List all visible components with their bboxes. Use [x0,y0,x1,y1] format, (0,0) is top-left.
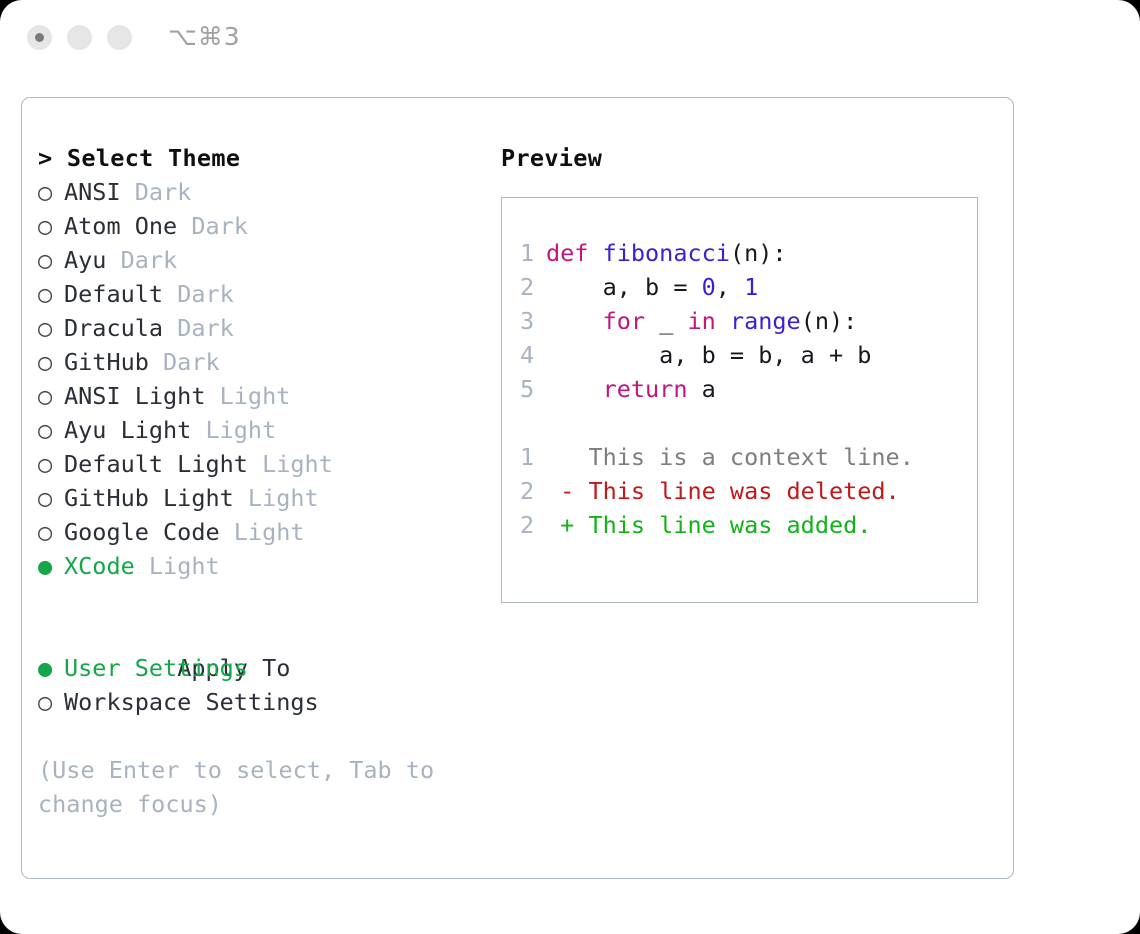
code-token-plain: _ [645,307,687,335]
code-line: 2 a, b = 0, 1 [520,270,977,304]
code-token-plain: a, b = b, a + b [546,341,871,369]
theme-variant-label: Dark [149,348,220,376]
line-number: 2 [520,508,546,542]
window-dot-third-icon[interactable] [107,25,132,50]
code-token-del: - This line was deleted. [546,477,900,505]
code-line: 4 a, b = b, a + b [520,338,977,372]
theme-name: Default Light [64,450,248,478]
line-number: 1 [520,440,546,474]
theme-list-item[interactable]: ○Ayu Dark [38,243,488,277]
theme-name: Dracula [64,314,163,342]
code-token-fn: range [730,307,801,335]
theme-name: GitHub [64,348,149,376]
code-token-add: + This line was added. [546,511,871,539]
theme-list-item[interactable]: ○GitHub Dark [38,345,488,379]
radio-unselected-icon: ○ [38,413,64,447]
theme-list-item[interactable]: ○Ayu Light Light [38,413,488,447]
line-number: 2 [520,474,546,508]
diff-line: 1 This is a context line. [520,440,977,474]
preview-column: Preview 1def fibonacci(n):2 a, b = 0, 13… [501,141,1001,603]
theme-list-item[interactable]: ○Atom One Dark [38,209,488,243]
theme-variant-label: Dark [163,280,234,308]
radio-unselected-icon: ○ [38,345,64,379]
diff-sample-block: 1 This is a context line.2 - This line w… [520,440,977,542]
theme-list: ○ANSI Dark○Atom One Dark○Ayu Dark○Defaul… [38,175,488,583]
line-number: 2 [520,270,546,304]
theme-variant-label: Dark [121,178,192,206]
code-token-kw: in [688,307,716,335]
radio-unselected-icon: ○ [38,243,64,277]
theme-variant-label: Light [220,518,305,546]
window-dot-second-icon[interactable] [67,25,92,50]
theme-list-item[interactable]: ○Dracula Dark [38,311,488,345]
code-line: 1def fibonacci(n): [520,236,977,270]
code-token-plain [546,307,603,335]
radio-unselected-icon: ○ [38,311,64,345]
apply-to-item[interactable]: ○Workspace Settings [38,685,488,719]
code-token-kw: for [603,307,645,335]
theme-name: Ayu [64,246,106,274]
code-token-ctx: This is a context line. [546,443,914,471]
theme-name: ANSI [64,178,121,206]
code-token-num: 1 [744,273,758,301]
code-token-fn: fibonacci [603,239,730,267]
diff-line: 2 + This line was added. [520,508,977,542]
theme-variant-label: Dark [177,212,248,240]
theme-list-item[interactable]: ○GitHub Light Light [38,481,488,515]
theme-list-item[interactable]: ○ANSI Light Light [38,379,488,413]
radio-selected-icon: ● [38,651,64,685]
code-token-plain: (n): [730,239,787,267]
code-line: 3 for _ in range(n): [520,304,977,338]
theme-name: GitHub Light [64,484,234,512]
theme-list-item[interactable]: ○Google Code Light [38,515,488,549]
code-sample-block: 1def fibonacci(n):2 a, b = 0, 13 for _ i… [520,236,977,406]
line-number: 4 [520,338,546,372]
theme-variant-label: Light [248,450,333,478]
diff-line: 2 - This line was deleted. [520,474,977,508]
theme-variant-label: Light [234,484,319,512]
preview-title: Preview [501,141,1001,175]
radio-unselected-icon: ○ [38,685,64,719]
code-token-num: 0 [702,273,716,301]
theme-list-item[interactable]: ○Default Dark [38,277,488,311]
theme-name: Atom One [64,212,177,240]
theme-list-item[interactable]: ○ANSI Dark [38,175,488,209]
code-token-plain: a [687,375,715,403]
theme-list-header: > Select Theme [38,141,488,175]
code-token-plain [716,307,730,335]
window-dot-active-inner-icon [35,33,44,42]
line-number: 3 [520,304,546,338]
code-token-plain: a, b = [546,273,702,301]
radio-unselected-icon: ○ [38,277,64,311]
code-token-plain: (n): [801,307,858,335]
code-token-kw: def [546,239,603,267]
radio-unselected-icon: ○ [38,379,64,413]
radio-unselected-icon: ○ [38,175,64,209]
theme-name: XCode [64,552,135,580]
theme-selector-column: > Select Theme ○ANSI Dark○Atom One Dark○… [38,141,488,821]
radio-unselected-icon: ○ [38,515,64,549]
theme-name: Ayu Light [64,416,191,444]
theme-variant-label: Dark [163,314,234,342]
code-token-kw: return [603,375,688,403]
titlebar: ⌥⌘3 [0,0,1140,78]
apply-to-header: ○Apply To [38,617,488,651]
app-window: ⌥⌘3 > Select Theme ○ANSI Dark○Atom One D… [0,0,1140,934]
code-line: 5 return a [520,372,977,406]
radio-selected-icon: ● [38,549,64,583]
main-panel: > Select Theme ○ANSI Dark○Atom One Dark○… [21,97,1014,879]
theme-variant-label: Dark [106,246,177,274]
radio-unselected-icon: ○ [38,209,64,243]
code-token-plain: , [716,273,744,301]
theme-list-item[interactable]: ○Default Light Light [38,447,488,481]
theme-list-item[interactable]: ●XCode Light [38,549,488,583]
keyboard-hint-text: (Use Enter to select, Tab to change focu… [38,753,458,821]
radio-unselected-icon: ○ [38,481,64,515]
keyboard-shortcut-label: ⌥⌘3 [168,22,241,51]
code-token-plain [546,375,603,403]
theme-name: Default [64,280,163,308]
apply-to-label: Workspace Settings [64,688,319,716]
radio-unselected-icon: ○ [38,447,64,481]
theme-name: ANSI Light [64,382,205,410]
line-number: 5 [520,372,546,406]
code-diff-separator [520,406,977,440]
theme-variant-label: Light [191,416,276,444]
theme-variant-label: Light [135,552,220,580]
apply-to-label: User Settings [64,654,248,682]
theme-name: Google Code [64,518,220,546]
theme-variant-label: Light [205,382,290,410]
preview-box: 1def fibonacci(n):2 a, b = 0, 13 for _ i… [501,197,978,603]
line-number: 1 [520,236,546,270]
